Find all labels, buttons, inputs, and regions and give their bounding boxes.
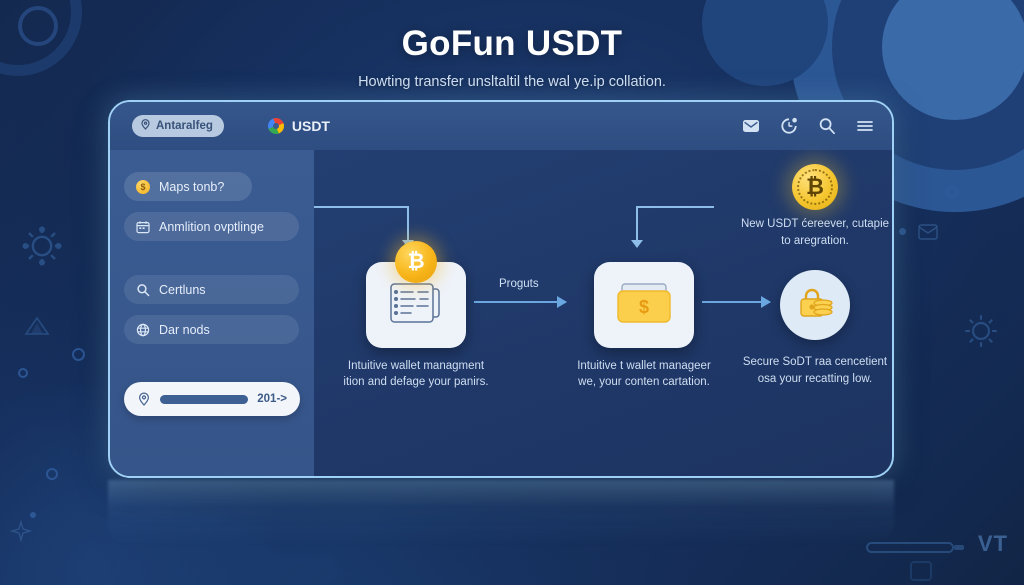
toolbar-icon-group	[742, 117, 874, 135]
sidebar-gap-2	[124, 241, 300, 275]
sidebar-item-label: Maps tonb?	[159, 180, 224, 194]
envelope-decoration	[918, 224, 938, 245]
sidebar-item-label: Dar nods	[159, 323, 210, 337]
diagram-canvas: Proguts ₿	[314, 150, 892, 476]
connector-line-2-horizontal	[636, 206, 714, 208]
page-subtitle: Howting transfer unsltaltil the wal ye.i…	[0, 73, 1024, 92]
sidebar-item-label: Certluns	[159, 283, 206, 297]
window-reflection	[108, 480, 894, 546]
progress-bar[interactable]	[160, 395, 248, 404]
node-secure-lock-circle[interactable]	[780, 270, 850, 340]
bitcoin-coin-icon-top: ₿	[792, 164, 838, 210]
tab-usdt[interactable]: USDT	[268, 118, 330, 134]
gear-icon	[20, 224, 64, 268]
sidebar-item-maps[interactable]: $ Maps tonb?	[124, 172, 252, 201]
gear-icon-right	[962, 312, 1000, 350]
refresh-clock-icon[interactable]	[780, 117, 798, 135]
tab-usdt-label: USDT	[292, 118, 330, 134]
search-icon[interactable]	[818, 117, 836, 135]
node-wallet-doc-card[interactable]: ₿	[366, 262, 466, 348]
globe-icon	[136, 323, 150, 337]
dot-decoration-2	[30, 512, 36, 518]
menu-icon[interactable]	[856, 117, 874, 135]
sidebar-item-darnods[interactable]: Dar nods	[124, 315, 299, 344]
node-top-coin-caption: New USDT ćereever, cutapie to aregration…	[740, 216, 890, 249]
workspace-badge[interactable]: Antaralfeg	[132, 115, 224, 137]
progress-label: 201->	[257, 393, 287, 405]
app-window: Antaralfeg USDT	[108, 100, 894, 478]
node-wallet-doc-caption: Intuitive wallet managment ition and def…	[341, 358, 491, 391]
flow-arrow-2	[702, 301, 770, 303]
wallet-dollar-icon: $	[613, 279, 675, 331]
sidebar-item-label: Anmlition ovptlinge	[159, 220, 264, 234]
watermark-chip	[910, 561, 932, 581]
lock-coins-icon	[794, 285, 836, 325]
watermark-label: VT	[978, 531, 1008, 557]
sidebar-item-certluns[interactable]: Certluns	[124, 275, 299, 304]
google-icon	[268, 118, 284, 134]
sidebar-progress-card[interactable]: 201->	[124, 382, 300, 416]
circle-decoration-1	[72, 348, 85, 361]
page-header: GoFun USDT Howting transfer unsltaltil t…	[0, 24, 1024, 92]
location-pin-icon	[137, 392, 151, 406]
connector-line-1-horizontal	[314, 206, 408, 208]
workspace-badge-label: Antaralfeg	[156, 120, 213, 132]
circle-decoration-2	[18, 368, 28, 378]
node-wallet-folder[interactable]: $ Intuitive t wallet manageer we, your c…	[594, 262, 694, 348]
sidebar-gap-1	[124, 201, 300, 212]
window-body: $ Maps tonb? Anmlition ovptlinge	[110, 150, 892, 476]
node-top-coin[interactable]: ₿ New USDT ćereever, cutapie to aregrati…	[792, 164, 838, 210]
sidebar-gap-3	[124, 304, 300, 315]
sidebar: $ Maps tonb? Anmlition ovptlinge	[110, 150, 314, 476]
circle-decoration-3	[46, 468, 58, 480]
page-title: GoFun USDT	[0, 24, 1024, 64]
connector-arrow-2	[631, 240, 643, 248]
bitcoin-coin-icon: ₿	[395, 241, 437, 283]
watermark-progress-bar	[866, 542, 954, 553]
svg-text:$: $	[639, 297, 649, 317]
node-secure-lock[interactable]: Secure SoDT raa cencetient osa your reca…	[780, 270, 850, 340]
coin-icon: $	[136, 180, 150, 194]
app-window-wrapper: Antaralfeg USDT	[108, 100, 894, 478]
calendar-icon	[136, 220, 150, 234]
sidebar-item-anmlition[interactable]: Anmlition ovptlinge	[124, 212, 299, 241]
dot-decoration-1	[899, 228, 906, 235]
node-secure-lock-caption: Secure SoDT raa cencetient osa your reca…	[740, 354, 890, 387]
search-icon	[136, 283, 150, 297]
flow-arrow-1	[474, 301, 566, 303]
node-wallet-folder-caption: Intuitive t wallet manageer we, your con…	[569, 358, 719, 391]
mail-icon[interactable]	[742, 117, 760, 135]
node-wallet-folder-card[interactable]: $	[594, 262, 694, 348]
screenshot-root: VT GoFun USDT Howting transfer unsltalti…	[0, 0, 1024, 585]
circle-decoration-4	[946, 186, 958, 198]
triangle-decoration	[24, 316, 50, 341]
sparkle-decoration	[10, 520, 32, 547]
connector-line-2-vertical	[636, 206, 638, 240]
node-wallet-doc[interactable]: ₿ Intuitive wallet managment ition and d…	[366, 262, 466, 348]
connector-line-1-vertical	[407, 206, 409, 240]
pin-icon	[141, 119, 150, 133]
flow-arrow-label: Proguts	[499, 278, 539, 290]
window-toolbar: Antaralfeg USDT	[110, 102, 892, 150]
document-list-icon	[387, 280, 445, 330]
